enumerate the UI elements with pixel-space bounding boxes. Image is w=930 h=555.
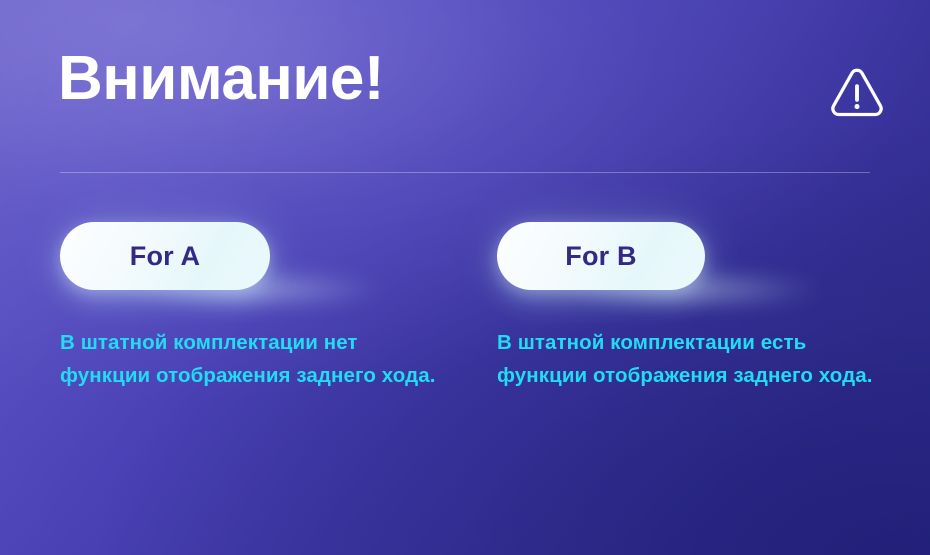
for-a-button-label: For A xyxy=(130,241,201,272)
for-b-description: В штатной комплектации есть функции отоб… xyxy=(497,326,887,392)
page-title: Внимание! xyxy=(58,48,384,110)
pill-wrapper-a: For A xyxy=(60,222,460,290)
for-b-button[interactable]: For B xyxy=(497,222,705,290)
for-b-button-label: For B xyxy=(565,241,637,272)
column-for-b: For B В штатной комплектации есть функци… xyxy=(497,222,897,392)
warning-triangle-icon xyxy=(826,62,888,124)
for-a-button[interactable]: For A xyxy=(60,222,270,290)
column-for-a: For A В штатной комплектации нет функции… xyxy=(60,222,460,392)
pill-wrapper-b: For B xyxy=(497,222,897,290)
header-divider xyxy=(60,172,870,173)
for-a-description: В штатной комплектации нет функции отобр… xyxy=(60,326,450,392)
warning-slide: Внимание! For A В штатной комплектации н… xyxy=(0,0,930,555)
